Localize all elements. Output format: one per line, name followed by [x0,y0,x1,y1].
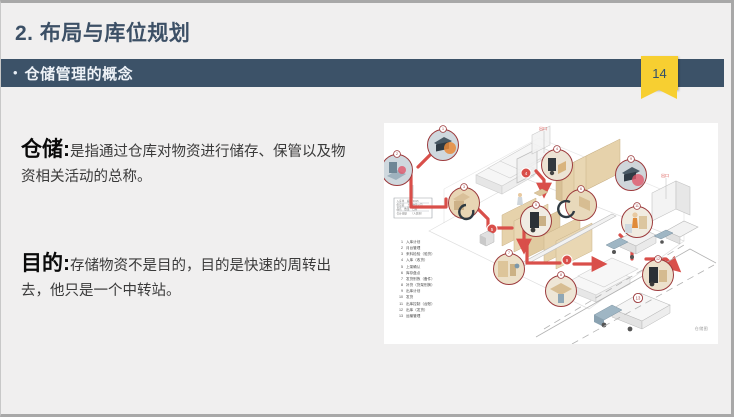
svg-text:3: 3 [463,185,465,189]
svg-text:合计金额 （人民币）: 合计金额 （人民币） [397,212,424,216]
legend-label: 发货 [406,295,413,299]
svg-text:13: 13 [636,296,641,301]
diagram-legend: 1入库计划 2月台管理 3来料检验（验货） 4入库（收货） 5上架确认 6库存盘… [394,239,435,319]
bullet-icon: • [13,66,18,79]
legend-label: 出库计划 [406,289,420,293]
legend-label: 库存盘点 [406,271,420,275]
definition-block-warehousing: 仓储:是指通过仓库对物资进行储存、保管以及物资相关活动的总称。 [21,133,356,190]
page-badge-tail-icon [641,90,677,99]
legend-label: 发货别拣（备件） [406,277,435,281]
svg-text:7: 7 [508,251,510,255]
legend-label: 月台管理 [406,246,420,250]
legend-label: 入库（收货） [406,258,428,262]
page-number: 14 [641,56,678,90]
legend-label: 入库计划 [406,240,420,244]
legend-label: 运输管理 [406,314,420,318]
legend-label: 上架确认 [406,265,420,269]
svg-text:2: 2 [396,152,398,156]
term-label-warehousing: 仓储: [21,138,70,161]
legend-item: 13运输管理 [394,313,435,319]
legend-label: 来料检验（验货） [406,252,435,256]
subtitle-bar: • 仓储管理的概念 [1,59,724,87]
svg-text:8: 8 [560,273,562,277]
svg-text:1: 1 [442,127,444,131]
legend-label: 出库（发货） [406,308,428,312]
presentation-slide: 2. 布局与库位规划 • 仓储管理的概念 14 仓储:是指通过仓库对物资进行储存… [0,0,734,417]
svg-text:出口: 出口 [539,125,547,131]
term-description-warehousing: 是指通过仓库对物资进行储存、保管以及物资相关活动的总称。 [21,144,346,185]
svg-text:5: 5 [535,203,537,207]
svg-text:入库单 编号 0015: 入库单 编号 0015 [397,199,420,203]
svg-text:6: 6 [580,187,582,191]
legend-label: 出库控制（台账） [406,302,435,306]
legend-label: 补货（货架别换） [406,283,435,287]
diagram-credit-label: 仓储图 [695,326,708,332]
term-label-purpose: 目的: [21,252,70,275]
svg-text:出口: 出口 [661,172,669,178]
svg-text:4: 4 [556,147,558,151]
warehouse-flow-diagram: 出口 出口 入库单 编号 0015 供应商 上 [384,123,718,344]
definition-block-purpose: 目的:存储物资不是目的，目的是快速的周转出去，他只是一个中转站。 [21,247,356,304]
svg-text:9: 9 [630,157,632,161]
svg-text:12: 12 [656,257,660,261]
callout-13: 13 [633,293,642,302]
subtitle-label: 仓储管理的概念 [25,63,134,84]
svg-text:11: 11 [635,204,639,208]
page-title: 2. 布局与库位规划 [15,17,190,47]
